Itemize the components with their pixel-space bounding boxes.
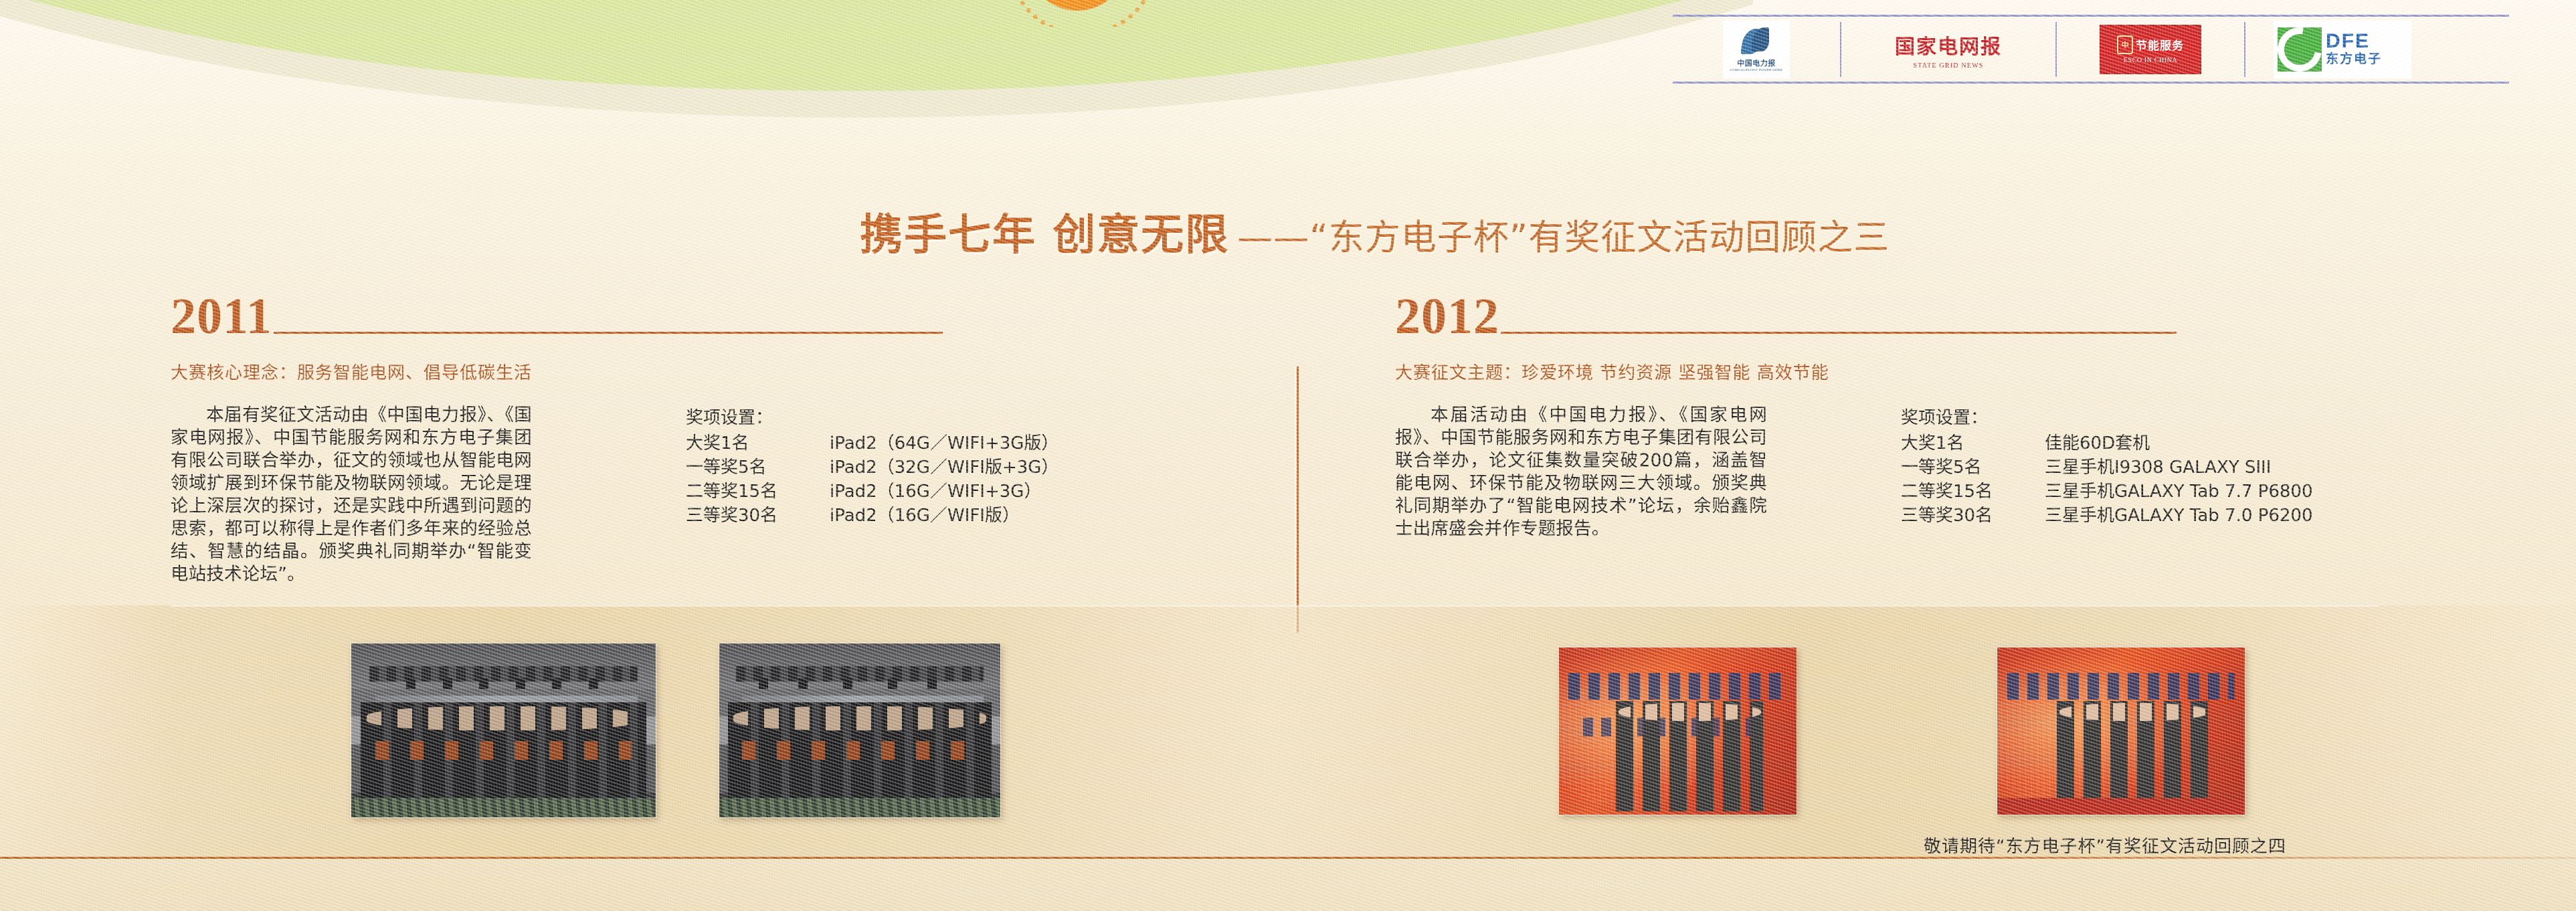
prize-value: iPad2（16G／WIFI版） [830,504,1020,528]
body-paragraph-text: 本届活动由《中国电力报》、《国家电网报》、中国节能服务网和东方电子集团有限公司联… [1395,404,1767,540]
body-paragraph: 本届活动由《中国电力报》、《国家电网报》、中国节能服务网和东方电子集团有限公司联… [1395,404,1767,540]
theme-value: 珍爱环境 节约资源 坚强智能 高效节能 [1522,363,1829,383]
logo-strip-bottom-rule [1673,82,2509,84]
prize-value: 三星手机GALAXY Tab 7.7 P6800 [2045,480,2313,504]
prize-row: 三等奖30名 三星手机GALAXY Tab 7.0 P6200 [1901,504,2313,528]
logo-en-text: ESCO IN CHINA [2124,57,2178,64]
theme-line: 大赛征文主题：珍爱环境 节约资源 坚强智能 高效节能 [1395,359,2412,384]
theme-value: 服务智能电网、倡导低碳生活 [297,363,532,383]
green-c-mark-icon [2278,27,2322,72]
sun-disc-icon [1027,0,1127,12]
logo-cn-text: 节能服务 [2136,36,2184,53]
prize-row: 二等奖15名 iPad2（16G／WIFI+3G） [686,480,1059,504]
body-paragraph-text: 本届有奖征文活动由《中国电力报》、《国家电网报》、中国节能服务网和东方电子集团有… [171,404,532,586]
prize-row: 二等奖15名 三星手机GALAXY Tab 7.7 P6800 [1901,480,2313,504]
prize-list: 奖项设置： 大奖1名 iPad2（64G／WIFI+3G版） 一等奖5名 iPa… [686,404,1059,586]
prize-value: iPad2（16G／WIFI+3G） [830,480,1041,504]
sponsor-logo-strip: 中国电力报 CHINA ELECTRIC POWER NEWS 国家电网报 ST… [1673,4,2543,87]
prize-label: 一等奖5名 [1901,455,2045,480]
prize-value: iPad2（32G／WIFI版+3G） [830,455,1059,480]
prize-value: 三星手机I9308 GALAXY SIII [2045,455,2271,480]
year-section-2011: 2011 大赛核心理念：服务智能电网、倡导低碳生活 本届有奖征文活动由《中国电力… [171,294,1174,586]
year-heading: 2011 [171,294,1174,339]
prize-label: 二等奖15名 [686,480,830,504]
logo-cn-text: 中国电力报 [1737,58,1776,68]
prize-list-title: 奖项设置： [686,404,1059,429]
logo-strip-top-rule [1673,15,2509,17]
logo-en-text: STATE GRID NEWS [1914,62,1984,70]
year-number: 2011 [171,294,272,339]
poster-page: 中国电力报 CHINA ELECTRIC POWER NEWS 国家电网报 ST… [0,0,2576,911]
column-divider-highlight [1295,367,1296,633]
prize-row: 大奖1名 佳能60D套机 [1901,431,2313,455]
page-title-main: 携手七年 创意无限 [860,211,1229,260]
prize-row: 一等奖5名 三星手机I9308 GALAXY SIII [1901,455,2313,480]
prize-value: 三星手机GALAXY Tab 7.0 P6200 [2045,504,2313,528]
logo-china-electric-power-news[interactable]: 中国电力报 CHINA ELECTRIC POWER NEWS [1673,19,1840,80]
year-number: 2012 [1395,294,1499,339]
year-underline [274,332,943,334]
logo-en-text: DFE [2326,31,2382,52]
prize-list-title: 奖项设置： [1901,404,2313,429]
prize-label: 二等奖15名 [1901,480,2045,504]
logo-state-grid-news[interactable]: 国家电网报 STATE GRID NEWS [1841,19,2055,80]
page-title-sub: ——“东方电子杯”有奖征文活动回顾之三 [1237,217,1890,258]
wave-mark-icon [1741,27,1772,56]
prize-row: 大奖1名 iPad2（64G／WIFI+3G版） [686,431,1059,455]
theme-label: 大赛核心理念： [171,363,297,383]
theme-line: 大赛核心理念：服务智能电网、倡导低碳生活 [171,359,1174,384]
prize-label: 一等奖5名 [686,455,830,480]
prize-value: iPad2（64G／WIFI+3G版） [830,431,1059,455]
theme-label: 大赛征文主题： [1395,363,1522,383]
logo-cn-text: 东方电子 [2326,52,2382,68]
prize-value: 佳能60D套机 [2045,431,2150,455]
prize-row: 一等奖5名 iPad2（32G／WIFI版+3G） [686,455,1059,480]
logo-esco-in-china[interactable]: 中 节能服务 ESCO IN CHINA [2057,19,2244,80]
logo-cn-text: 国家电网报 [1895,30,2002,60]
photo-2012-award-ceremony-b[interactable] [1997,647,2245,815]
year-underline [1501,332,2177,334]
prize-row: 三等奖30名 iPad2（16G／WIFI版） [686,504,1059,528]
page-title: 携手七年 创意无限——“东方电子杯”有奖征文活动回顾之三 [860,201,1890,262]
china-badge-icon: 中 [2117,35,2133,54]
photo-2011-award-group[interactable] [351,643,656,817]
prize-label: 大奖1名 [686,431,830,455]
prize-list: 奖项设置： 大奖1名 佳能60D套机 一等奖5名 三星手机I9308 GALAX… [1901,404,2313,540]
photo-2012-award-ceremony-a[interactable] [1559,647,1797,815]
body-paragraph: 本届有奖征文活动由《中国电力报》、《国家电网报》、中国节能服务网和东方电子集团有… [171,404,532,586]
logo-dfe[interactable]: DFE 东方电子 [2245,19,2440,80]
year-heading: 2012 [1395,294,2412,339]
prize-label: 大奖1名 [1901,431,2045,455]
logo-en-text: CHINA ELECTRIC POWER NEWS [1730,68,1783,72]
prize-label: 三等奖30名 [686,504,830,528]
green-swoosh-decoration [0,0,1753,134]
prize-label: 三等奖30名 [1901,504,2045,528]
column-divider [1297,367,1299,633]
footer-note: 敬请期待“东方电子杯”有奖征文活动回顾之四 [1924,833,2286,857]
year-section-2012: 2012 大赛征文主题：珍爱环境 节约资源 坚强智能 高效节能 本届活动由《中国… [1395,294,2412,540]
photo-2011-award-ceremony[interactable] [719,643,1000,817]
